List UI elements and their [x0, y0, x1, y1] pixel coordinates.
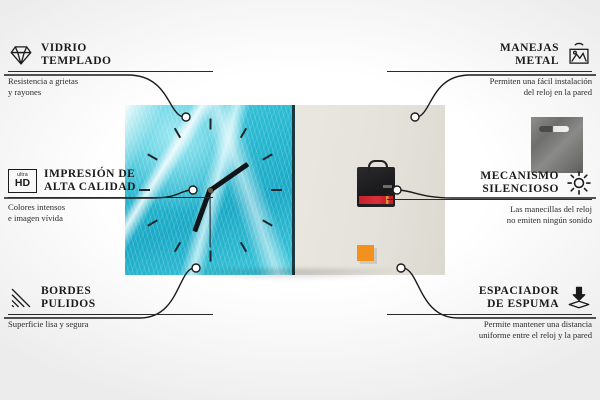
clock-tick	[173, 128, 180, 139]
foam-spacer-pad	[357, 245, 374, 261]
feature-divider	[8, 314, 213, 315]
feature-title: ESPACIADOR DE ESPUMA	[479, 285, 559, 311]
feature-header: VIDRIO TEMPLADO	[8, 42, 213, 68]
mechanism-loop	[368, 160, 388, 172]
feature-mecanismo-silencioso: MECANISMO SILENCIOSO Las manecillas del …	[387, 170, 592, 225]
feature-description: Permiten una fácil instalación del reloj…	[387, 76, 592, 97]
picture-hanger-icon	[566, 42, 592, 68]
clock-tick	[173, 242, 180, 253]
feature-manejas-metal: MANEJAS METAL Permiten una fácil instala…	[387, 42, 592, 97]
clock-tick	[262, 219, 273, 226]
feature-header: ultra HD IMPRESIÓN DE ALTA CALIDAD	[8, 168, 213, 194]
feature-description: Resistencia a grietas y rayones	[8, 76, 213, 97]
feature-divider	[8, 71, 213, 72]
clock-tick	[262, 153, 273, 160]
feature-description: Superficie lisa y segura	[8, 319, 213, 330]
feature-espaciador-espuma: ESPACIADOR DE ESPUMA Permite mantener un…	[387, 285, 592, 340]
feature-vidrio-templado: VIDRIO TEMPLADO Resistencia a grietas y …	[8, 42, 213, 97]
feature-description: Permite mantener una distancia uniforme …	[387, 319, 592, 340]
clock-tick	[239, 128, 246, 139]
feature-title: VIDRIO TEMPLADO	[41, 42, 111, 68]
feature-title: IMPRESIÓN DE ALTA CALIDAD	[44, 168, 136, 194]
diamond-icon	[8, 42, 34, 68]
feature-description: Las manecillas del reloj no emiten ningú…	[387, 204, 592, 225]
feature-title: MANEJAS METAL	[500, 42, 559, 68]
product-infographic: VIDRIO TEMPLADO Resistencia a grietas y …	[0, 0, 600, 400]
feature-divider	[387, 314, 592, 315]
clock-tick	[209, 251, 211, 262]
clock-tick	[209, 119, 211, 130]
feature-title: MECANISMO SILENCIOSO	[480, 170, 559, 196]
hanger-keyhole-slot	[539, 126, 569, 132]
foam-spacer-arrow-icon	[566, 285, 592, 311]
feature-header: MECANISMO SILENCIOSO	[387, 170, 592, 196]
feature-header: ESPACIADOR DE ESPUMA	[387, 285, 592, 311]
clock-tick	[271, 189, 282, 191]
ultra-hd-icon: ultra HD	[8, 169, 37, 193]
feature-title: BORDES PULIDOS	[41, 285, 96, 311]
clock-tick	[239, 242, 246, 253]
feature-impresion-alta-calidad: ultra HD IMPRESIÓN DE ALTA CALIDAD Color…	[8, 168, 213, 223]
feature-description: Colores intensos e imagen vívida	[8, 202, 213, 223]
feature-divider	[387, 199, 592, 200]
metal-hanger-plate	[531, 117, 583, 173]
feature-divider	[387, 71, 592, 72]
clock-tick	[148, 153, 159, 160]
ultra-hd-icon-big-label: HD	[15, 178, 30, 189]
clock-hour-hand	[209, 162, 249, 192]
polished-edges-icon	[8, 285, 34, 311]
feature-divider	[8, 197, 213, 198]
feature-header: MANEJAS METAL	[387, 42, 592, 68]
feature-header: BORDES PULIDOS	[8, 285, 213, 311]
feature-bordes-pulidos: BORDES PULIDOS Superficie lisa y segura	[8, 285, 213, 330]
gear-icon	[566, 170, 592, 196]
